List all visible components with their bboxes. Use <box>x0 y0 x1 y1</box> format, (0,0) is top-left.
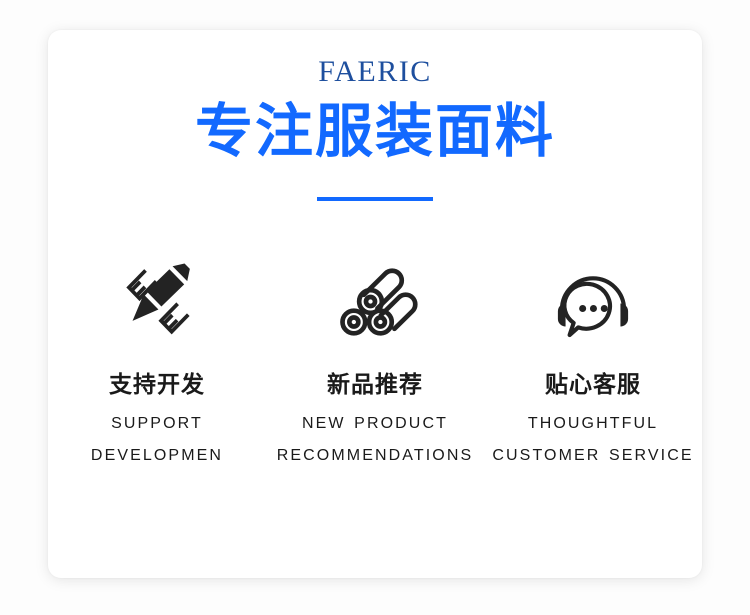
feature-cn-label: 新品推荐 <box>327 370 423 400</box>
feature-customer-service[interactable]: 贴心客服 THOUGHTFUL CUSTOMER SERVICE <box>484 258 702 472</box>
feature-en-label: NEW PRODUCT RECOMMENDATIONS <box>266 408 484 472</box>
brand-name: FAERIC <box>48 55 702 89</box>
feature-support-development[interactable]: 支持开发 SUPPORT DEVELOPMEN <box>48 258 266 472</box>
feature-list: 支持开发 SUPPORT DEVELOPMEN <box>48 258 702 472</box>
page-title: 专注服装面料 <box>48 96 702 166</box>
title-divider <box>317 197 433 201</box>
promo-banner: FAERIC 专注服装面料 <box>0 0 750 615</box>
pencil-ruler-icon <box>111 258 203 350</box>
feature-cn-label: 支持开发 <box>109 370 205 400</box>
headset-chat-icon <box>547 258 639 350</box>
fabric-rolls-icon <box>329 258 421 350</box>
feature-cn-label: 贴心客服 <box>545 370 641 400</box>
feature-new-products[interactable]: 新品推荐 NEW PRODUCT RECOMMENDATIONS <box>266 258 484 472</box>
feature-en-label: THOUGHTFUL CUSTOMER SERVICE <box>484 408 702 472</box>
banner-card: FAERIC 专注服装面料 <box>48 30 702 578</box>
feature-en-label: SUPPORT DEVELOPMEN <box>48 408 266 472</box>
